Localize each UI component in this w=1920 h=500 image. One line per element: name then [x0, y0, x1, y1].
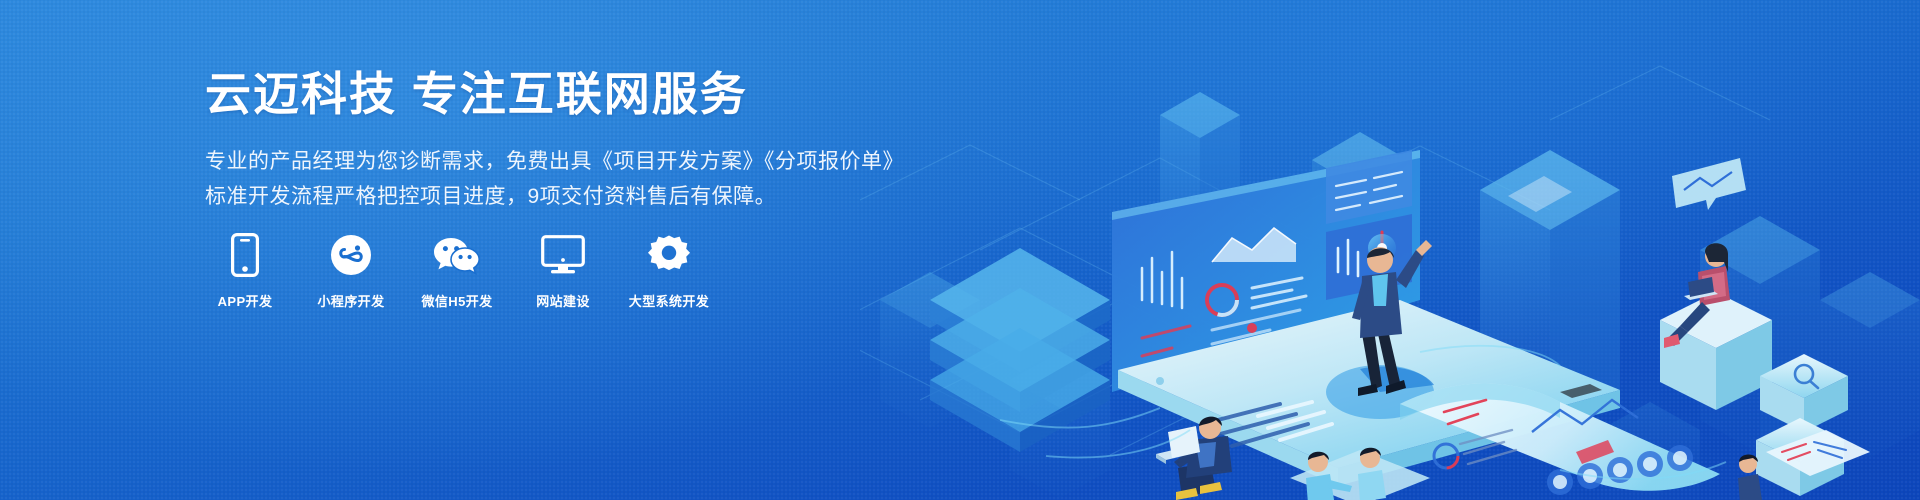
monitor-icon	[541, 232, 585, 278]
tablet-platform	[1118, 300, 1620, 486]
connection-curves	[1000, 346, 1726, 479]
seated-person-laptop	[1156, 417, 1232, 500]
service-label: 微信H5开发	[421, 291, 492, 310]
small-person-figure	[1738, 455, 1762, 500]
seated-woman-laptop	[1660, 243, 1772, 410]
magnifier-cube	[1760, 354, 1848, 432]
service-label: 大型系统开发	[629, 291, 709, 310]
server-stack	[930, 248, 1110, 452]
isometric-city-buildings	[880, 0, 1920, 500]
mobile-phone-icon	[231, 232, 259, 278]
service-item-mini-program[interactable]: 小程序开发	[311, 232, 391, 310]
service-label: 小程序开发	[317, 291, 384, 310]
hero-banner: 云迈科技 专注互联网服务 专业的产品经理为您诊断需求，免费出具《项目开发方案》《…	[0, 0, 1920, 500]
service-item-app[interactable]: APP开发	[205, 232, 285, 310]
service-label: 网站建设	[536, 291, 590, 310]
banner-copy: 云迈科技 专注互联网服务 专业的产品经理为您诊断需求，免费出具《项目开发方案》《…	[205, 66, 925, 214]
banner-subtitle: 专业的产品经理为您诊断需求，免费出具《项目开发方案》《分项报价单》 标准开发流程…	[205, 144, 925, 215]
service-item-website[interactable]: 网站建设	[523, 232, 603, 310]
service-item-wechat-h5[interactable]: 微信H5开发	[417, 232, 497, 310]
chart-ribbon	[1400, 383, 1720, 495]
standing-person-pointing	[1352, 240, 1432, 396]
page-title: 云迈科技 专注互联网服务	[205, 66, 925, 124]
service-label: APP开发	[218, 291, 273, 310]
dashboard-screen	[1112, 150, 1420, 392]
code-screen	[1756, 418, 1870, 496]
isometric-tech-illustration	[860, 0, 1920, 500]
mini-program-icon	[330, 232, 372, 278]
wechat-icon	[433, 232, 481, 278]
subtitle-line-1: 专业的产品经理为您诊断需求，免费出具《项目开发方案》《分项报价单》	[205, 144, 925, 179]
gear-icon	[648, 232, 690, 278]
service-list: APP开发 小程序开发	[205, 232, 709, 310]
two-people-talking	[1290, 448, 1430, 500]
subtitle-line-2: 标准开发流程严格把控项目进度，9项交付资料售后有保障。	[205, 179, 925, 214]
service-item-large-system[interactable]: 大型系统开发	[629, 232, 709, 310]
chat-bubble-chart	[1672, 158, 1746, 210]
background-wire-grid	[860, 66, 1770, 455]
